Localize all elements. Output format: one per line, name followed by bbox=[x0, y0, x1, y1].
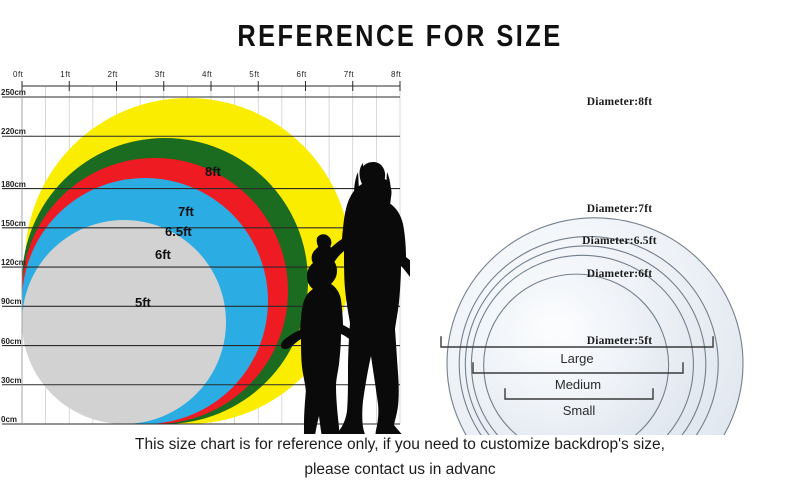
x-tick-label-1ft: 1ft bbox=[60, 70, 70, 79]
y-tick-label-0cm: 0cm bbox=[1, 415, 17, 424]
disclaimer-caption: This size chart is for reference only, i… bbox=[30, 432, 770, 482]
caption-line-1: This size chart is for reference only, i… bbox=[30, 432, 770, 457]
bracket-label-large: Large bbox=[441, 351, 713, 366]
disc-label-6ft: Diameter:6ft bbox=[415, 268, 800, 280]
disc-label-8ft: Diameter:8ft bbox=[415, 96, 800, 108]
y-tick-label-250cm: 250cm bbox=[1, 88, 26, 97]
height-reference-chart: 0ft1ft2ft3ft4ft5ft6ft7ft8ft 250cm220cm18… bbox=[0, 64, 410, 434]
circle-label-6ft: 6ft bbox=[155, 247, 171, 262]
bracket-label-small: Small bbox=[505, 403, 653, 418]
y-tick-label-90cm: 90cm bbox=[1, 297, 21, 306]
circle-label-8ft: 8ft bbox=[205, 164, 221, 179]
x-tick-label-6ft: 6ft bbox=[297, 70, 307, 79]
circle-5ft bbox=[22, 220, 226, 424]
disc-label-7ft: Diameter:7ft bbox=[415, 203, 800, 215]
y-tick-label-180cm: 180cm bbox=[1, 180, 26, 189]
disc-diameter-panel: Diameter:8ftDiameter:7ftDiameter:6.5ftDi… bbox=[415, 60, 800, 435]
height-chart-canvas bbox=[0, 64, 410, 434]
bracket-label-medium: Medium bbox=[473, 377, 683, 392]
disc-label-5ft: Diameter:5ft bbox=[415, 335, 800, 347]
x-tick-label-5ft: 5ft bbox=[249, 70, 259, 79]
y-tick-label-220cm: 220cm bbox=[1, 127, 26, 136]
y-tick-label-150cm: 150cm bbox=[1, 219, 26, 228]
disc-label-6.5ft: Diameter:6.5ft bbox=[415, 235, 800, 247]
x-tick-label-0ft: 0ft bbox=[13, 70, 23, 79]
x-tick-label-2ft: 2ft bbox=[108, 70, 118, 79]
y-tick-label-60cm: 60cm bbox=[1, 337, 21, 346]
circle-label-7ft: 7ft bbox=[178, 204, 194, 219]
x-tick-label-7ft: 7ft bbox=[344, 70, 354, 79]
y-tick-label-120cm: 120cm bbox=[1, 258, 26, 267]
circle-label-5ft: 5ft bbox=[135, 295, 151, 310]
x-tick-label-8ft: 8ft bbox=[391, 70, 401, 79]
page-title: REFERENCE FOR SIZE bbox=[72, 18, 728, 54]
x-tick-label-3ft: 3ft bbox=[155, 70, 165, 79]
caption-line-2: please contact us in advanc bbox=[30, 457, 770, 482]
x-tick-label-4ft: 4ft bbox=[202, 70, 212, 79]
size-circles bbox=[22, 98, 351, 424]
circle-label-6.5ft: 6.5ft bbox=[165, 224, 192, 239]
y-tick-label-30cm: 30cm bbox=[1, 376, 21, 385]
